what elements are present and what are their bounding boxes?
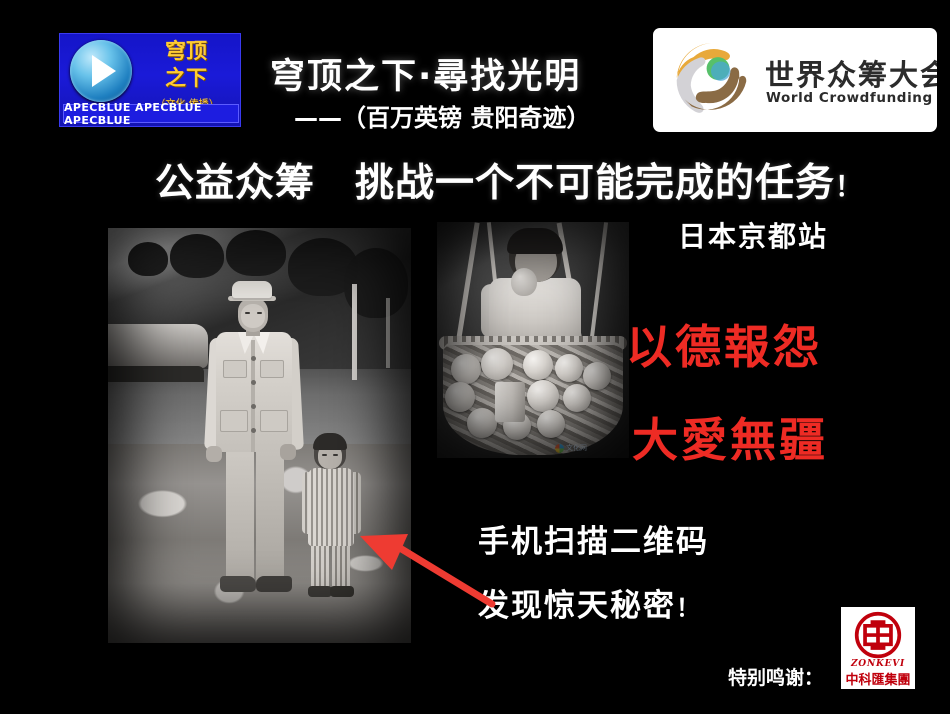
page-title: 穹顶之下·尋找光明 bbox=[270, 48, 670, 99]
tree-icon bbox=[226, 230, 286, 276]
uniform-pocket bbox=[260, 360, 284, 378]
tree-icon bbox=[128, 242, 168, 276]
slogan-line-2: 大愛無疆 bbox=[632, 404, 828, 470]
child-right-shoe bbox=[330, 586, 354, 597]
child-eye bbox=[322, 454, 327, 456]
special-thanks-label: 特别鸣谢： bbox=[728, 663, 823, 690]
child-eye bbox=[333, 454, 338, 456]
zonkevi-chinese-name: 中科匯集團 bbox=[841, 669, 915, 688]
crowdfunding-emblem-icon bbox=[667, 36, 755, 124]
uniform-button bbox=[251, 356, 256, 361]
fruit-icon bbox=[583, 362, 611, 390]
soldier-eye bbox=[257, 312, 262, 314]
photo-watermark: 文化网 bbox=[555, 442, 587, 454]
scan-instruction-line-2: 发现惊天秘密！ bbox=[478, 580, 702, 625]
zonkevi-sponsor-logo[interactable]: ZONKEVI 中科匯集團 bbox=[841, 607, 915, 689]
apecblue-logo[interactable]: 穹顶 之下 （文化·传播） APECBLUE APECBLUE APECBLUE bbox=[59, 33, 241, 127]
tree-icon bbox=[170, 234, 224, 278]
soldier-left-leg bbox=[226, 450, 254, 580]
soldier-eye bbox=[245, 312, 250, 314]
fruit-icon bbox=[467, 408, 497, 438]
play-icon bbox=[70, 40, 132, 102]
uniform-pocket bbox=[223, 360, 247, 378]
page-subtitle: ——（百万英镑 贵阳奇迹） bbox=[294, 98, 674, 133]
scan-line2-text: 发现惊天秘密 bbox=[478, 588, 676, 624]
fruit-icon bbox=[563, 384, 591, 412]
child-striped-outfit bbox=[308, 468, 354, 546]
fruit-held-by-child bbox=[511, 268, 537, 296]
poster-canvas: 穹顶 之下 （文化·传播） APECBLUE APECBLUE APECBLUE… bbox=[0, 0, 950, 714]
tree-trunk bbox=[386, 298, 390, 368]
scan-line2-exclamation: ！ bbox=[676, 594, 702, 622]
child-hair bbox=[313, 433, 347, 450]
soldier-right-shoe bbox=[256, 576, 292, 592]
zonkevi-emblem-icon bbox=[850, 611, 906, 661]
uniform-button bbox=[251, 404, 256, 409]
station-label: 日本京都站 bbox=[678, 215, 828, 255]
apecblue-logo-cn-line1: 穹顶 bbox=[136, 38, 236, 65]
watermark-text: 文化网 bbox=[566, 443, 587, 453]
uniform-button bbox=[251, 380, 256, 385]
uniform-pocket bbox=[260, 410, 288, 432]
uniform-cap bbox=[232, 281, 272, 298]
headline-text: 公益众筹 挑战一个不可能完成的任务 bbox=[155, 161, 835, 206]
scan-instruction-line-1: 手机扫描二维码 bbox=[478, 516, 709, 561]
world-crowdfunding-conference-logo[interactable]: 世界众筹大会 World Crowdfunding Conference bbox=[653, 28, 937, 132]
headline-exclamation: ！ bbox=[835, 172, 863, 203]
uniform-pocket bbox=[220, 410, 248, 432]
soldier-right-leg bbox=[256, 450, 284, 580]
child-hair bbox=[507, 228, 563, 254]
uniform-button bbox=[251, 428, 256, 433]
apecblue-logo-chinese: 穹顶 之下 bbox=[136, 38, 236, 98]
rock-shadow bbox=[108, 366, 204, 382]
fruit-icon bbox=[445, 382, 475, 412]
apecblue-logo-cn-line2: 之下 bbox=[136, 65, 236, 92]
fruit-icon bbox=[527, 380, 559, 412]
soldier-left-hand bbox=[206, 446, 222, 462]
fruit-icon bbox=[481, 348, 513, 380]
soldier-left-shoe bbox=[220, 576, 256, 592]
tree-trunk bbox=[352, 284, 357, 380]
apecblue-wordmark-strip: APECBLUE APECBLUE APECBLUE bbox=[63, 104, 239, 123]
red-pointer-arrow bbox=[352, 520, 497, 610]
wcc-logo-english: World Crowdfunding Conference bbox=[766, 90, 937, 106]
fruit-icon bbox=[451, 354, 481, 384]
slogan-line-1: 以德報怨 bbox=[626, 311, 822, 377]
fruit-icon bbox=[537, 410, 565, 438]
soldier-right-hand bbox=[280, 444, 296, 460]
wcc-logo-chinese: 世界众筹大会 bbox=[765, 52, 937, 94]
zonkevi-english-name: ZONKEVI bbox=[841, 659, 915, 669]
child-left-shoe bbox=[308, 586, 332, 597]
metal-can bbox=[495, 382, 525, 422]
child-left-leg bbox=[311, 542, 329, 590]
headline: 公益众筹 挑战一个不可能完成的任务！ bbox=[155, 152, 863, 208]
watermark-icon bbox=[555, 444, 564, 453]
fruit-icon bbox=[523, 350, 553, 380]
soldier-face bbox=[241, 304, 265, 328]
fruit-icon bbox=[555, 354, 583, 382]
child-right-leg bbox=[332, 542, 350, 590]
historic-photo-child-in-fruit-basket: 文化网 bbox=[437, 222, 629, 458]
rock-ledge bbox=[108, 324, 208, 368]
